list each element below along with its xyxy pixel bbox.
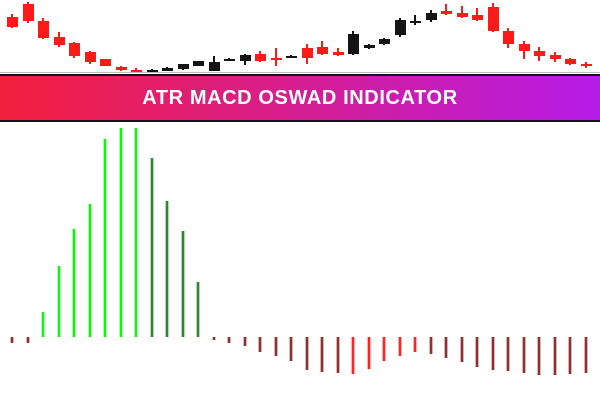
histogram-bar [274, 337, 278, 356]
candle-body [255, 54, 266, 61]
candle-body [426, 13, 437, 20]
candle-body [503, 31, 514, 44]
candle-body [519, 44, 530, 51]
histogram-bar [243, 337, 247, 346]
indicator-title-banner: ATR MACD OSWAD INDICATOR [0, 74, 600, 122]
candlestick [100, 0, 111, 72]
candlestick [519, 0, 530, 72]
candle-body [302, 48, 313, 58]
histogram-bar [212, 337, 216, 340]
candle-body [116, 67, 127, 70]
price-baseline [0, 72, 600, 73]
candlestick [581, 0, 592, 72]
histogram-bar [57, 266, 61, 337]
candle-body [348, 34, 359, 54]
histogram-bar [413, 337, 417, 352]
candlestick [69, 0, 80, 72]
candlestick [193, 0, 204, 72]
histogram-bar [196, 282, 200, 337]
candle-body [240, 55, 251, 61]
histogram-bar [553, 337, 557, 375]
histogram-bar [258, 337, 262, 352]
candle-body [69, 43, 80, 56]
candlestick [395, 0, 406, 72]
candlestick [162, 0, 173, 72]
candle-body [333, 52, 344, 55]
macd-histogram-chart[interactable] [0, 122, 600, 400]
candlestick [224, 0, 235, 72]
histogram-bar [320, 337, 324, 372]
candle-body [286, 56, 297, 58]
candlestick [147, 0, 158, 72]
candlestick [54, 0, 65, 72]
candle-body [565, 59, 576, 63]
candle-body [488, 7, 499, 31]
histogram-bar [227, 337, 231, 343]
candle-body [271, 58, 282, 60]
histogram-bar [336, 337, 340, 373]
candlestick [209, 0, 220, 72]
histogram-bar [351, 337, 355, 374]
candlestick [131, 0, 142, 72]
histogram-bar [382, 337, 386, 361]
histogram-bar [367, 337, 371, 369]
candle-body [224, 59, 235, 61]
histogram-bar [429, 337, 433, 354]
histogram-bar [41, 312, 45, 337]
candle-body [209, 62, 220, 70]
candle-body [178, 64, 189, 69]
candlestick [240, 0, 251, 72]
candlestick [441, 0, 452, 72]
candlestick [333, 0, 344, 72]
histogram-bar [506, 337, 510, 371]
histogram-bar [119, 128, 123, 337]
histogram-bar [584, 337, 588, 373]
histogram-bar [26, 337, 30, 343]
histogram-bar [568, 337, 572, 374]
candlestick [364, 0, 375, 72]
candlestick [426, 0, 437, 72]
candle-body [457, 13, 468, 17]
histogram-bar [103, 139, 107, 337]
histogram-bar [134, 128, 138, 337]
candle-body [379, 39, 390, 43]
histogram-bar [444, 337, 448, 358]
candlestick [255, 0, 266, 72]
histogram-bar [150, 158, 154, 337]
candlestick [302, 0, 313, 72]
histogram-bar [522, 337, 526, 373]
candle-body [54, 37, 65, 45]
candle-body [100, 59, 111, 65]
histogram-bar [88, 204, 92, 337]
candlestick [550, 0, 561, 72]
candle-body [441, 11, 452, 14]
candle-body [534, 51, 545, 57]
histogram-bar [165, 201, 169, 337]
candlestick [379, 0, 390, 72]
histogram-bar [181, 231, 185, 337]
candlestick [488, 0, 499, 72]
candlestick [534, 0, 545, 72]
histogram-bar [72, 229, 76, 337]
candle-body [85, 52, 96, 62]
histogram-bar [305, 337, 309, 370]
candle-body [472, 15, 483, 19]
candle-body [193, 61, 204, 65]
histogram-bar [491, 337, 495, 370]
candlestick [23, 0, 34, 72]
candlestick [178, 0, 189, 72]
candlestick [472, 0, 483, 72]
candlestick [348, 0, 359, 72]
candle-body [581, 64, 592, 67]
candle-body [317, 47, 328, 54]
histogram-bar [398, 337, 402, 356]
candle-body [395, 20, 406, 36]
candle-body [7, 17, 18, 27]
candlestick [38, 0, 49, 72]
candlestick [271, 0, 282, 72]
candle-body [410, 21, 421, 23]
histogram-bar [460, 337, 464, 362]
price-candlestick-chart[interactable] [0, 0, 600, 74]
histogram-bar [10, 337, 14, 343]
candlestick [565, 0, 576, 72]
candle-body [162, 68, 173, 71]
candlestick [503, 0, 514, 72]
page-title: ATR MACD OSWAD INDICATOR [142, 87, 458, 110]
candlestick [457, 0, 468, 72]
candle-body [23, 4, 34, 21]
candlestick [286, 0, 297, 72]
candlestick [116, 0, 127, 72]
histogram-bar [289, 337, 293, 361]
indicator-screenshot: ATR MACD OSWAD INDICATOR [0, 0, 600, 400]
histogram-bar [537, 337, 541, 375]
histogram-bar [475, 337, 479, 367]
candle-body [364, 45, 375, 48]
candlestick [7, 0, 18, 72]
candlestick [85, 0, 96, 72]
candle-body [550, 55, 561, 59]
candlestick [317, 0, 328, 72]
candlestick [410, 0, 421, 72]
candle-body [38, 21, 49, 38]
